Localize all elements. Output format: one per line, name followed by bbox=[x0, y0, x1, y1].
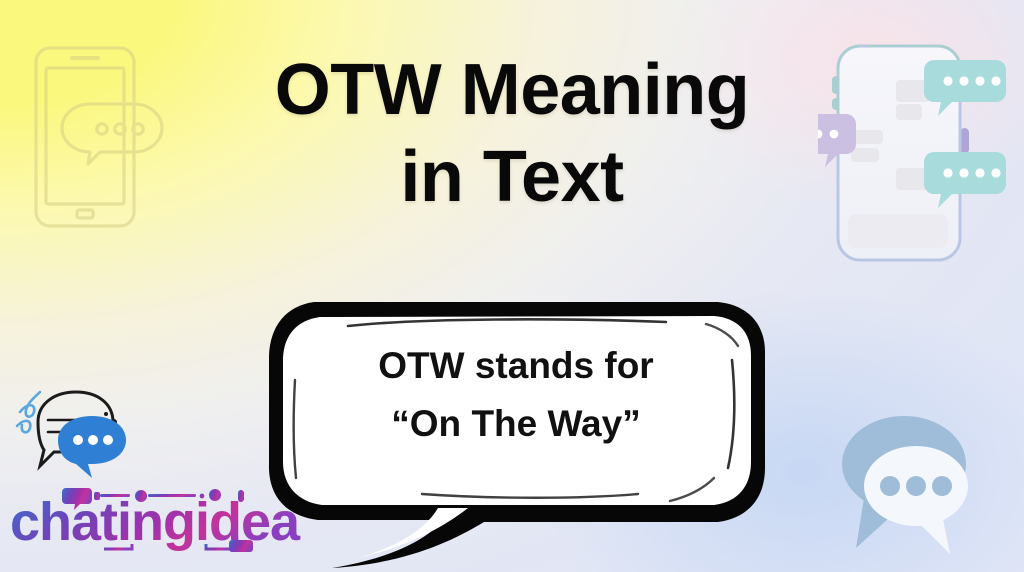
infographic-canvas: OTW Meaning in Text OTW stands for “On T… bbox=[0, 0, 1024, 572]
chat-bubbles-decoration bbox=[820, 402, 1000, 562]
brand-name-text: chatingidea bbox=[10, 492, 301, 552]
front-bubble bbox=[864, 446, 968, 554]
brand-wordmark-svg: chatingidea bbox=[10, 486, 320, 552]
answer-line-2: “On The Way” bbox=[306, 400, 726, 448]
answer-text: OTW stands for “On The Way” bbox=[306, 342, 726, 448]
page-title: OTW Meaning in Text bbox=[0, 54, 1024, 215]
page-title-line-2: in Text bbox=[0, 141, 1024, 214]
chat-bubble-logo-icon bbox=[14, 378, 144, 496]
brand-wordmark: chatingidea bbox=[10, 486, 320, 552]
page-title-line-1: OTW Meaning bbox=[0, 54, 1024, 127]
answer-line-1: OTW stands for bbox=[306, 342, 726, 390]
brand-logo[interactable]: chatingidea bbox=[6, 378, 326, 568]
answer-speech-bubble: OTW stands for “On The Way” bbox=[262, 296, 772, 572]
